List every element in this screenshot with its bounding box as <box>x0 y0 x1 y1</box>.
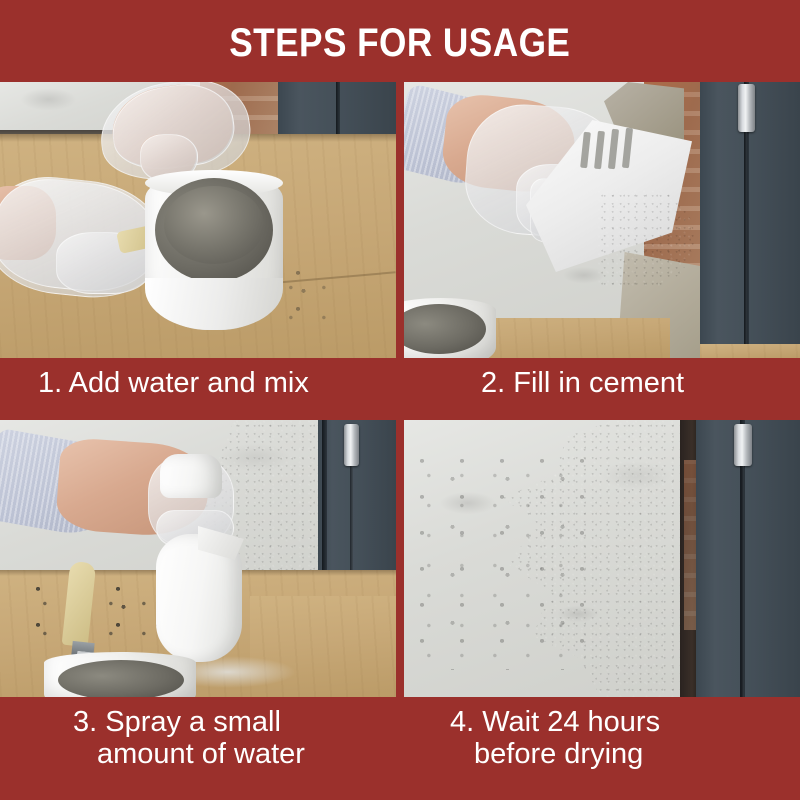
step-1-image <box>0 82 396 358</box>
step-3-caption-line-1: 3. Spray a small <box>73 706 281 738</box>
step-2-caption: 2. Fill in cement <box>481 367 684 399</box>
infographic-root: STEPS FOR USAGE <box>0 0 800 800</box>
page-title: STEPS FOR USAGE <box>229 19 570 63</box>
step-1-caption: 1. Add water and mix <box>38 367 309 399</box>
step-2-image <box>404 82 800 358</box>
step-4-caption: 4. Wait 24 hoursbefore drying <box>450 706 660 771</box>
step-3-caption-line-2: amount of water <box>97 738 305 770</box>
step-4-caption-line-2: before drying <box>474 738 643 770</box>
step-4-image <box>404 420 800 697</box>
step-3-caption: 3. Spray a smallamount of water <box>73 706 305 771</box>
page-title-bar: STEPS FOR USAGE <box>0 0 800 82</box>
step-4-caption-line-1: 4. Wait 24 hours <box>450 706 660 738</box>
step-3-image <box>0 420 396 697</box>
